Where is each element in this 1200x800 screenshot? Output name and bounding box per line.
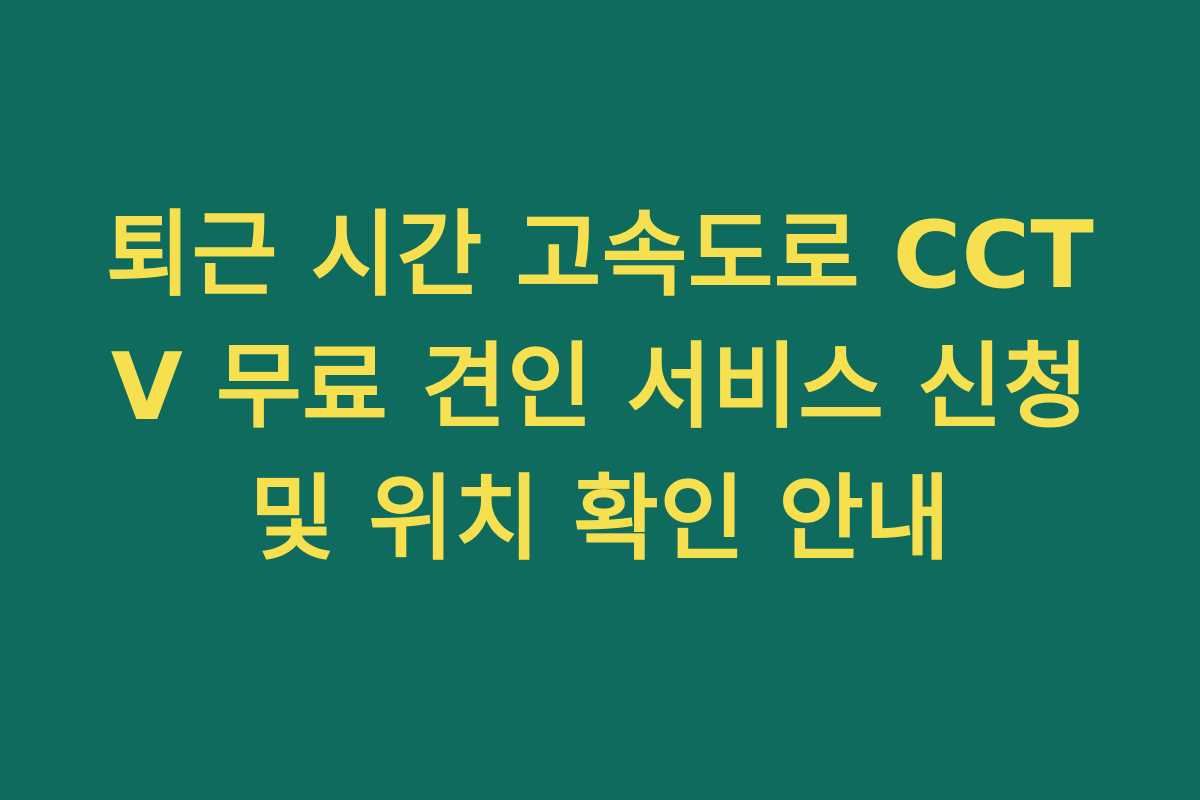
headline-line-2: V 무료 견인 서비스 신청 bbox=[85, 321, 1115, 453]
headline-line-3: 및 위치 확인 안내 bbox=[85, 453, 1115, 585]
banner-canvas: 퇴근 시간 고속도로 CCT V 무료 견인 서비스 신청 및 위치 확인 안내 bbox=[0, 0, 1200, 800]
headline-line-1: 퇴근 시간 고속도로 CCT bbox=[85, 189, 1115, 321]
page-title: 퇴근 시간 고속도로 CCT V 무료 견인 서비스 신청 및 위치 확인 안내 bbox=[85, 189, 1115, 585]
